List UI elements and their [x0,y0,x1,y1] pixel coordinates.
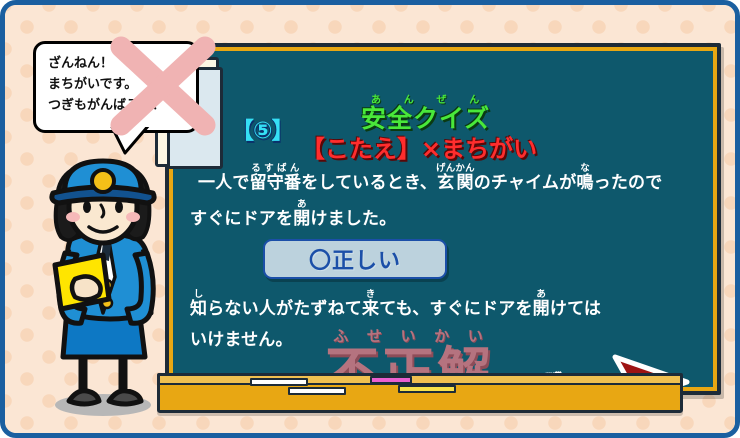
police-officer-character [31,157,181,419]
blackboard: 【⑤】 安全クイズあんぜん 【こたえ】×まちがい 一人で留守番るすばんをしている… [165,43,721,395]
q1-seg1: 一人で [198,173,250,193]
e1-kuru: 来 [362,299,379,319]
question-text-line-2: すぐにドアを開あけました。 [190,199,396,229]
quiz-title-furigana: あんぜん [361,95,490,106]
q1-seg4: ったので [594,173,663,193]
e1-seg1: らない人がたずねて [207,299,362,319]
choice-button-label: 〇正しい [309,243,401,275]
chalk-tray [157,373,683,413]
speech-bubble: ざんねん！ まちがいです。 つぎもがんばろう！ [33,41,199,133]
speech-bubble-text: ざんねん！ まちがいです。 つぎもがんばろう！ [48,53,165,116]
answer-result-line: 【こたえ】×まちがい [301,129,537,164]
explanation-line-1: 知しらない人がたずねて来きても、すぐにドアを開あけては [190,289,601,319]
e1-akeru-furigana: あ [533,289,550,300]
e1-shiru: 知 [190,299,207,319]
question-text-line-1: 一人で留守番るすばんをしているとき、玄関げんかんのチャイムが鳴なったので [198,163,662,193]
e1-kuru-furigana: き [362,289,379,300]
quiz-screen: 【⑤】 安全クイズあんぜん 【こたえ】×まちがい 一人で留守番るすばんをしている… [0,0,740,438]
e1-shiru-furigana: し [190,289,207,300]
incorrect-stamp-furigana: ふせいかい [325,327,493,345]
chalk-white-2 [288,387,346,395]
q2-akemashita: 開 [293,209,310,229]
q1-seg2: をしているとき、 [301,173,437,193]
e1-seg3: けては [550,299,601,319]
question-number-badge: 【⑤】 [231,111,293,145]
chalk-tray-lip [160,376,680,385]
q1-seg3: のチャイムが [474,173,577,193]
q1-genkan-furigana: げんかん [436,163,475,174]
q1-rusuban: 留守番 [250,173,302,193]
choice-button-correct[interactable]: 〇正しい [263,239,447,279]
chalk-pink [370,376,412,384]
q1-natta: 鳴 [576,173,593,193]
chalk-yellow [398,385,456,393]
q1-natta-furigana: な [576,163,593,174]
explanation-line-2: いけません。 [190,325,293,350]
q1-rusuban-furigana: るすばん [250,163,302,174]
q2-seg1: すぐにドアを [190,209,293,229]
speech-bubble-tail [109,123,153,157]
e1-seg2: ても、すぐにドアを [379,299,532,319]
blackboard-surface: 【⑤】 安全クイズあんぜん 【こたえ】×まちがい 一人で留守番るすばんをしている… [173,51,713,387]
hat-badge [92,170,114,192]
q1-genkan: 玄関 [436,173,475,193]
e1-akeru: 開 [533,299,550,319]
chalk-white-1 [250,378,308,386]
q2-seg2: けました。 [310,209,396,229]
q2-akemashita-furigana: あ [293,199,310,210]
